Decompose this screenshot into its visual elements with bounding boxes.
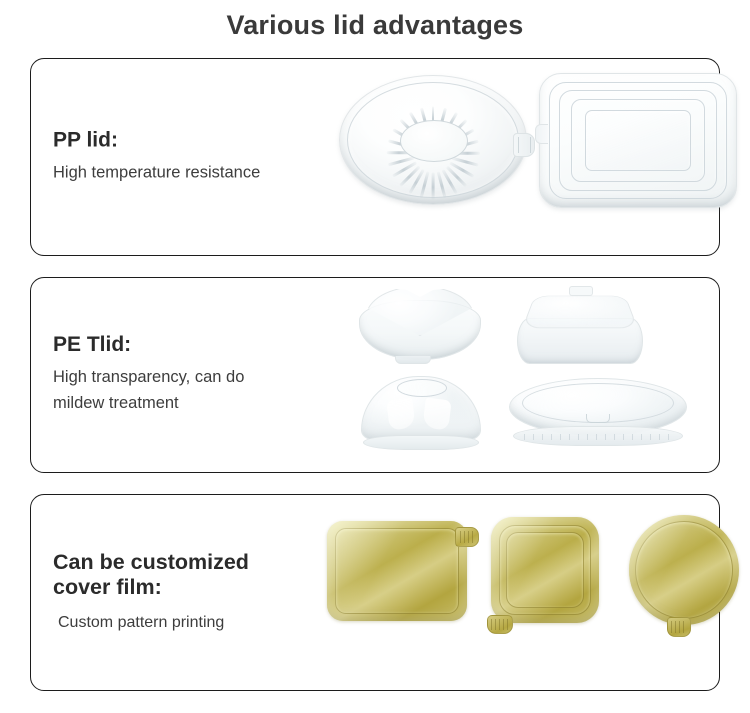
pe-oval-lid-notch: [586, 414, 610, 423]
film-round: [629, 515, 739, 625]
pe-subtitle-line2: mildew treatment: [53, 390, 313, 416]
film-square-tab: [487, 615, 513, 634]
pp-text-block: PP lid: High temperature resistance: [53, 128, 313, 185]
pp-rect-lid-ridge-4: [585, 110, 691, 171]
film-rect-tab: [455, 527, 479, 547]
card-pe-lid: PE Tlid: High transparency, can do milde…: [30, 277, 720, 473]
card-cover-film: Can be customized cover film: Custom pat…: [30, 494, 720, 691]
pe-dome-lid-highlight-left: [386, 398, 415, 431]
card-pp-lid: PP lid: High temperature resistance: [30, 58, 720, 256]
pp-rect-lid-notch: [535, 124, 548, 144]
film-rect: [327, 521, 467, 621]
pe-heart-lid: [359, 286, 479, 366]
film-round-inner-edge: [635, 521, 733, 619]
pe-dome-lid-brim: [363, 435, 479, 450]
film-square-inner-edge-2: [506, 532, 584, 608]
pp-round-lid-rib: [432, 172, 435, 199]
pe-text-block: PE Tlid: High transparency, can do milde…: [53, 333, 313, 417]
pe-oval-lid-skirt: [513, 426, 683, 446]
pe-dome-lid: [361, 376, 479, 450]
film-square: [491, 517, 599, 623]
film-rect-inner-edge: [335, 528, 459, 614]
pp-round-lid-tab: [513, 133, 535, 157]
pp-rect-lid: [539, 73, 737, 208]
pp-round-lid-hub: [400, 120, 468, 162]
film-heading-line2: cover film:: [53, 575, 313, 600]
pe-dome-lid-straw-hole: [397, 379, 447, 397]
film-round-tab: [667, 617, 691, 637]
pe-square-lid-top: [522, 296, 638, 328]
pe-square-lid-notch: [569, 286, 593, 296]
pe-subtitle-line1: High transparency, can do: [53, 364, 313, 390]
pe-oval-lid: [509, 378, 685, 446]
pe-heart-lid-foot: [395, 356, 431, 364]
film-text-block: Can be customized cover film: Custom pat…: [53, 549, 313, 635]
film-heading-line1: Can be customized: [53, 549, 313, 574]
pe-square-lid: [517, 284, 641, 364]
infographic-page: Various lid advantages PP lid: High temp…: [0, 0, 750, 713]
pp-heading: PP lid:: [53, 128, 313, 153]
film-product-gallery: [321, 495, 711, 690]
pe-product-gallery: [321, 278, 711, 472]
page-title: Various lid advantages: [0, 10, 750, 41]
film-heading: Can be customized cover film:: [53, 549, 313, 600]
pp-product-gallery: [321, 59, 711, 255]
film-subtitle: Custom pattern printing: [53, 610, 313, 636]
pp-subtitle: High temperature resistance: [53, 159, 313, 185]
pe-dome-lid-highlight-right: [422, 398, 451, 431]
pp-round-lid: [339, 75, 527, 205]
pe-heading: PE Tlid:: [53, 333, 313, 358]
